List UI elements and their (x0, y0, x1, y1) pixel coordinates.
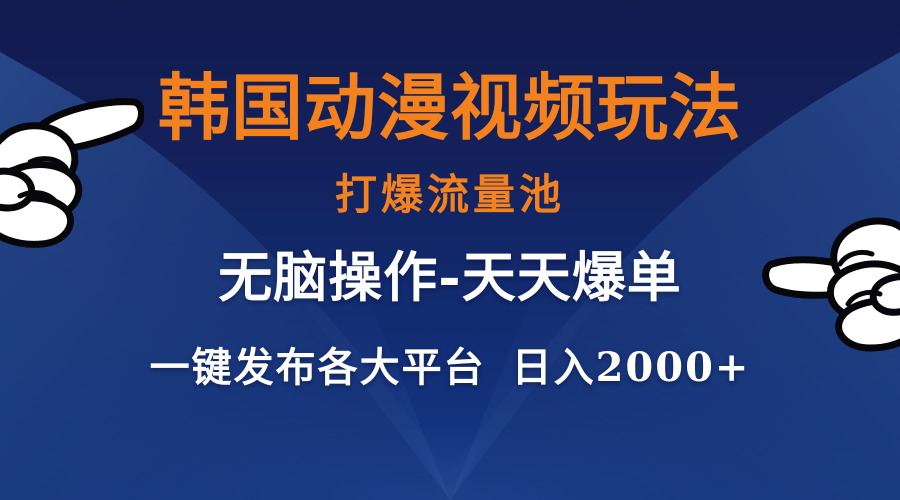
hand-left-thumb (0, 171, 32, 208)
poster-offer-income: 日入2000+ (512, 344, 751, 391)
poster-offer-platform: 一键发布各大平台 (150, 344, 486, 391)
promo-poster: 韩国动漫视频玩法 打爆流量池 无脑操作-天天爆单 一键发布各大平台日入2000+ (0, 0, 900, 500)
hand-pointing-right-icon (0, 78, 144, 248)
poster-offer: 一键发布各大平台日入2000+ (0, 348, 900, 388)
hand-pointing-left-icon (762, 212, 900, 352)
